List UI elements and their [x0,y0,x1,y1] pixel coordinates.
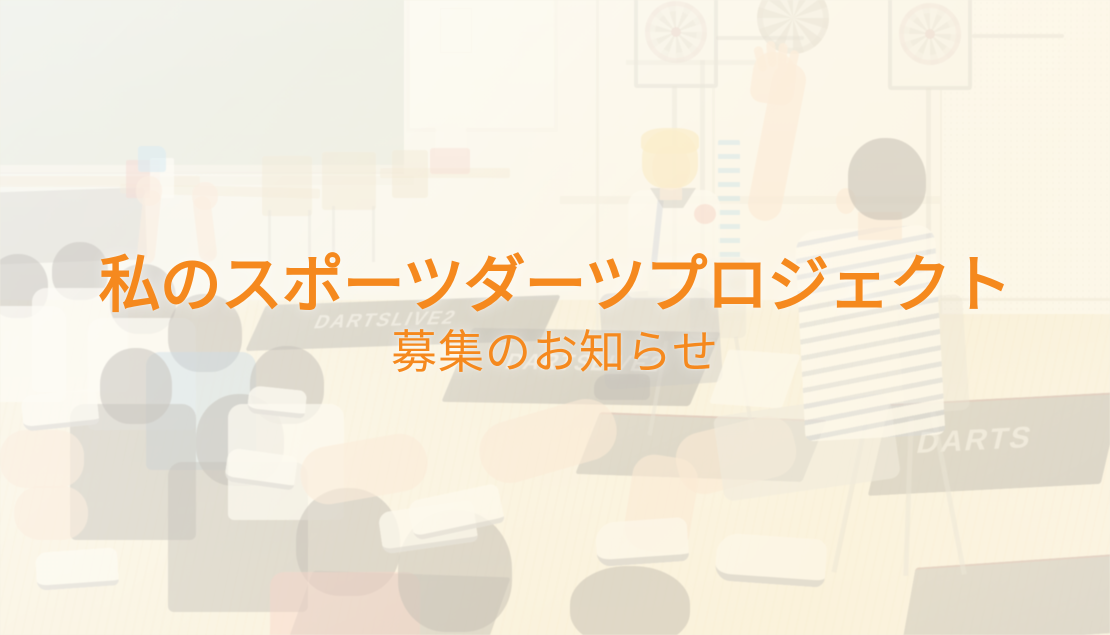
banner-title: 私のスポーツダーツプロジェクト [99,252,1012,317]
banner-text-layer: 私のスポーツダーツプロジェクト 募集のお知らせ [0,0,1110,635]
banner-subtitle: 募集のお知らせ [391,327,719,378]
hero-banner: DARTSLIVE2 DARTSLIVE2 DARTS [0,0,1110,635]
